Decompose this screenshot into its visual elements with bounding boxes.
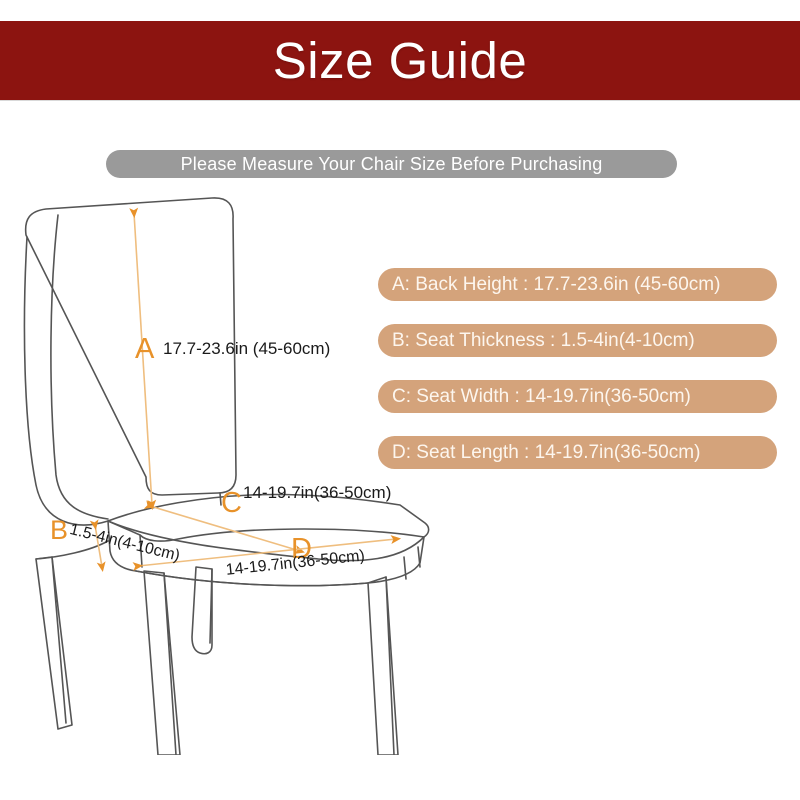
legend-item-a: A: Back Height : 17.7-23.6in (45-60cm) [378, 268, 777, 301]
legend-item-d: D: Seat Length : 14-19.7in(36-50cm) [378, 436, 777, 469]
legend-item-b: B: Seat Thickness : 1.5-4in(4-10cm) [378, 324, 777, 357]
measure-value-a: 17.7-23.6in (45-60cm) [163, 339, 330, 359]
measure-letter-b: B [50, 515, 68, 546]
legend-item-d-label: D: Seat Length : 14-19.7in(36-50cm) [392, 442, 700, 464]
subtitle-banner: Please Measure Your Chair Size Before Pu… [106, 150, 677, 178]
header-banner: Size Guide [0, 21, 800, 100]
legend-item-b-label: B: Seat Thickness : 1.5-4in(4-10cm) [392, 330, 695, 352]
subtitle-text: Please Measure Your Chair Size Before Pu… [181, 154, 603, 175]
measure-letter-c: C [221, 487, 242, 520]
legend-item-c-label: C: Seat Width : 14-19.7in(36-50cm) [392, 386, 691, 408]
chair-outline [24, 198, 428, 755]
measure-letter-a: A [135, 333, 154, 366]
page-title: Size Guide [273, 35, 527, 86]
measure-value-c: 14-19.7in(36-50cm) [243, 483, 391, 503]
size-guide-page: Size Guide Please Measure Your Chair Siz… [0, 0, 800, 800]
legend-item-c: C: Seat Width : 14-19.7in(36-50cm) [378, 380, 777, 413]
legend-list: A: Back Height : 17.7-23.6in (45-60cm) B… [378, 268, 778, 492]
legend-item-a-label: A: Back Height : 17.7-23.6in (45-60cm) [392, 274, 720, 296]
